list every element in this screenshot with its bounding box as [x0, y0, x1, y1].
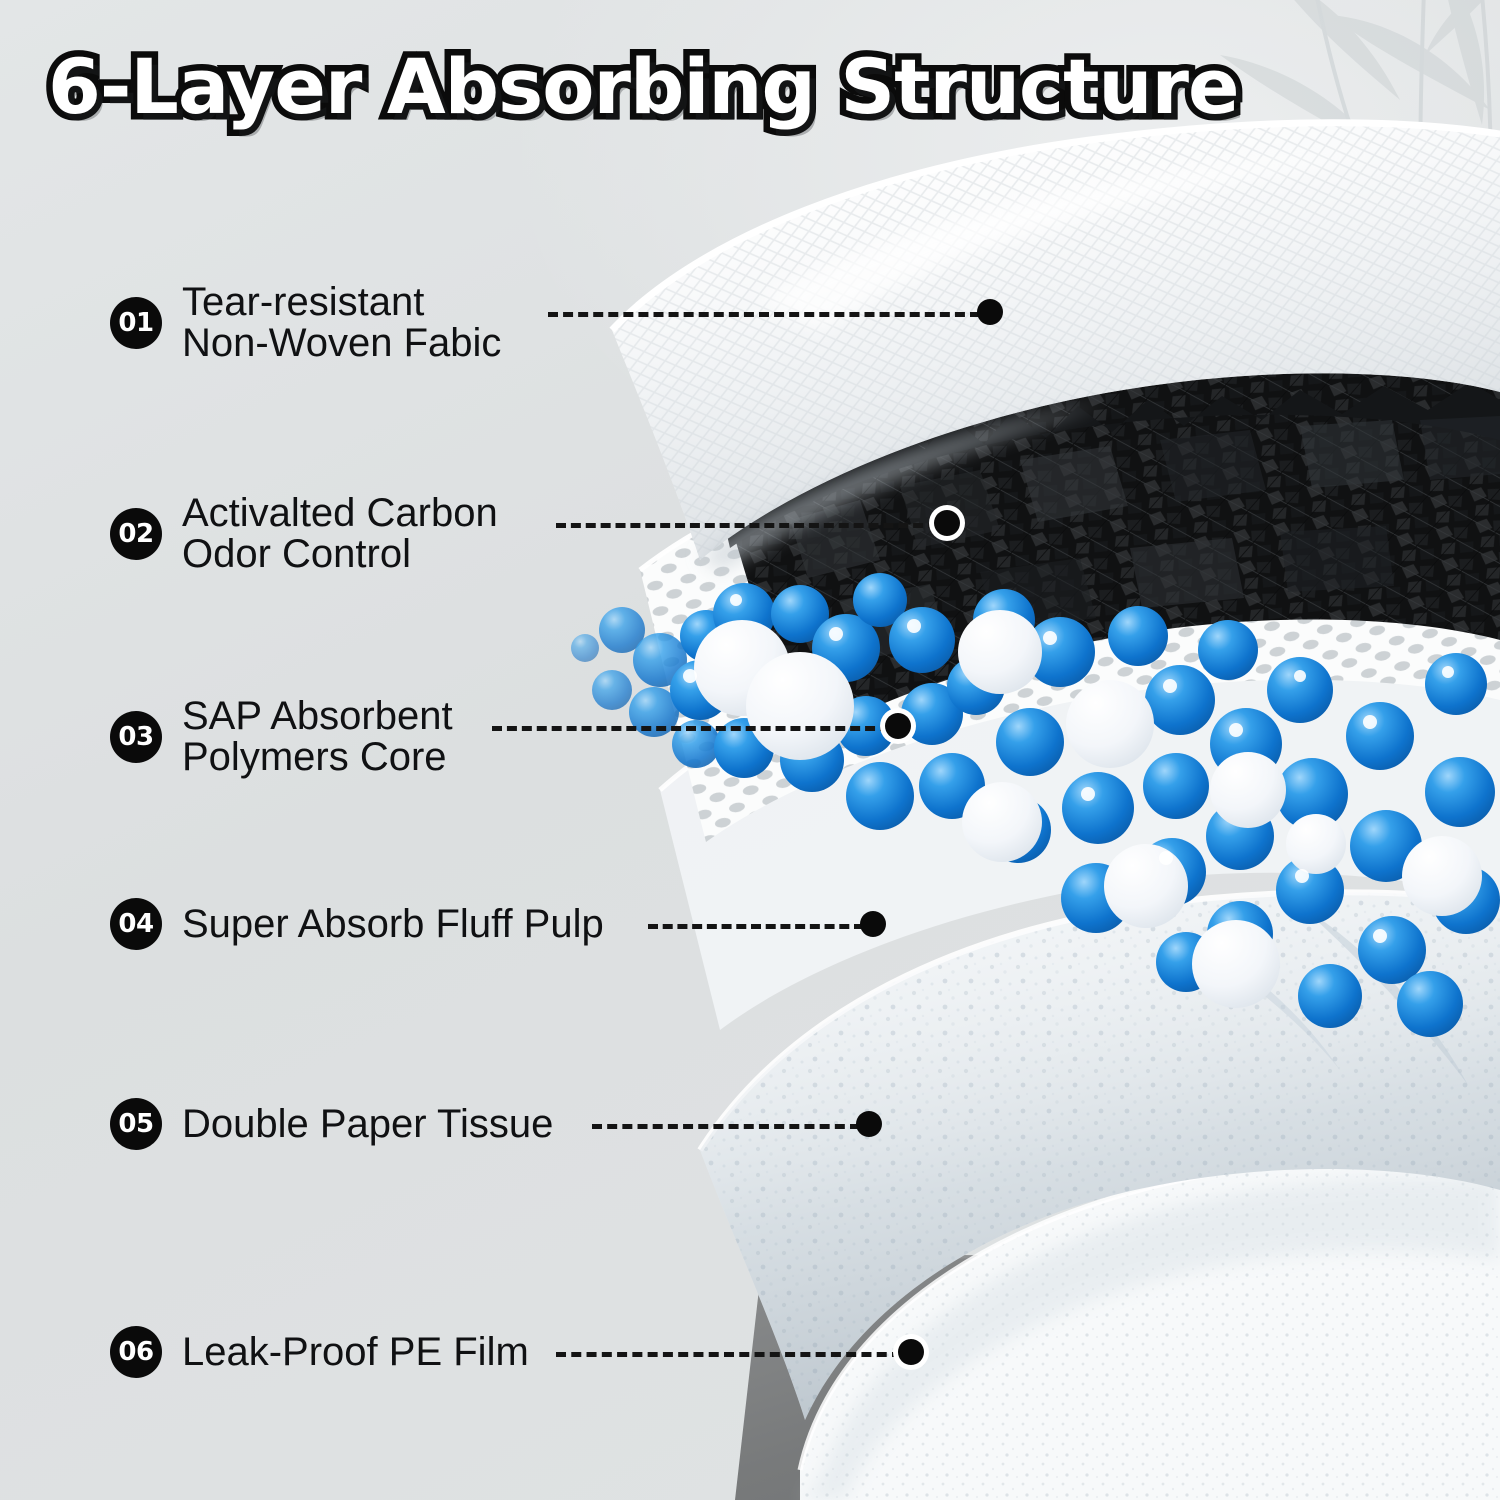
leader-line-06	[556, 1352, 902, 1357]
leader-dot-02	[934, 510, 960, 536]
callout-03-line1: SAP Absorbent	[182, 694, 453, 738]
badge-01: 01	[110, 297, 162, 349]
white-polymer-bead	[1286, 814, 1346, 874]
callout-03-text: SAP Absorbent Polymers Core	[182, 696, 453, 778]
white-polymer-bead	[1402, 836, 1482, 916]
callout-01[interactable]: 01 Tear-resistant Non-Woven Fabic	[110, 282, 501, 364]
leader-line-01	[548, 312, 980, 317]
callout-05-line1: Double Paper Tissue	[182, 1102, 553, 1146]
leader-line-04	[648, 924, 864, 929]
callout-02[interactable]: 02 Activalted Carbon Odor Control	[110, 493, 498, 575]
white-polymer-bead	[746, 652, 854, 760]
leader-line-03	[492, 726, 890, 731]
callout-05[interactable]: 05 Double Paper Tissue	[110, 1098, 553, 1150]
badge-06: 06	[110, 1326, 162, 1378]
callout-01-line1: Tear-resistant	[182, 280, 424, 324]
white-polymer-bead	[1066, 680, 1154, 768]
white-polymer-bead	[1104, 844, 1188, 928]
badge-04: 04	[110, 898, 162, 950]
badge-05: 05	[110, 1098, 162, 1150]
white-polymer-bead	[1210, 752, 1286, 828]
callout-02-text: Activalted Carbon Odor Control	[182, 493, 498, 575]
page-title: 6-Layer Absorbing Structure	[0, 0, 1500, 170]
callout-05-text: Double Paper Tissue	[182, 1104, 553, 1145]
callout-03-line2: Polymers Core	[182, 737, 453, 778]
leader-dot-01	[977, 299, 1003, 325]
callout-01-line2: Non-Woven Fabic	[182, 323, 501, 364]
leader-line-05	[592, 1124, 860, 1129]
leader-dot-03	[885, 713, 911, 739]
infographic-canvas: 6-Layer Absorbing Structure 01 Tear-resi…	[0, 0, 1500, 1500]
callout-02-line2: Odor Control	[182, 534, 498, 575]
leader-dot-06	[898, 1339, 924, 1365]
white-polymer-bead	[962, 782, 1042, 862]
page-title-text: 6-Layer Absorbing Structure	[48, 42, 1239, 131]
callout-06-text: Leak-Proof PE Film	[182, 1332, 529, 1373]
callout-02-line1: Activalted Carbon	[182, 491, 498, 535]
white-polymer-bead	[958, 610, 1042, 694]
white-polymer-bead	[1192, 920, 1280, 1008]
callout-03[interactable]: 03 SAP Absorbent Polymers Core	[110, 696, 453, 778]
callout-04[interactable]: 04 Super Absorb Fluff Pulp	[110, 898, 604, 950]
leader-dot-04	[860, 911, 886, 937]
callout-06-line1: Leak-Proof PE Film	[182, 1330, 529, 1374]
leader-dot-05	[856, 1111, 882, 1137]
badge-02: 02	[110, 508, 162, 560]
callout-01-text: Tear-resistant Non-Woven Fabic	[182, 282, 501, 364]
leader-line-02	[556, 523, 938, 528]
badge-03: 03	[110, 711, 162, 763]
callout-04-text: Super Absorb Fluff Pulp	[182, 904, 604, 945]
callout-04-line1: Super Absorb Fluff Pulp	[182, 902, 604, 946]
callout-06[interactable]: 06 Leak-Proof PE Film	[110, 1326, 529, 1378]
